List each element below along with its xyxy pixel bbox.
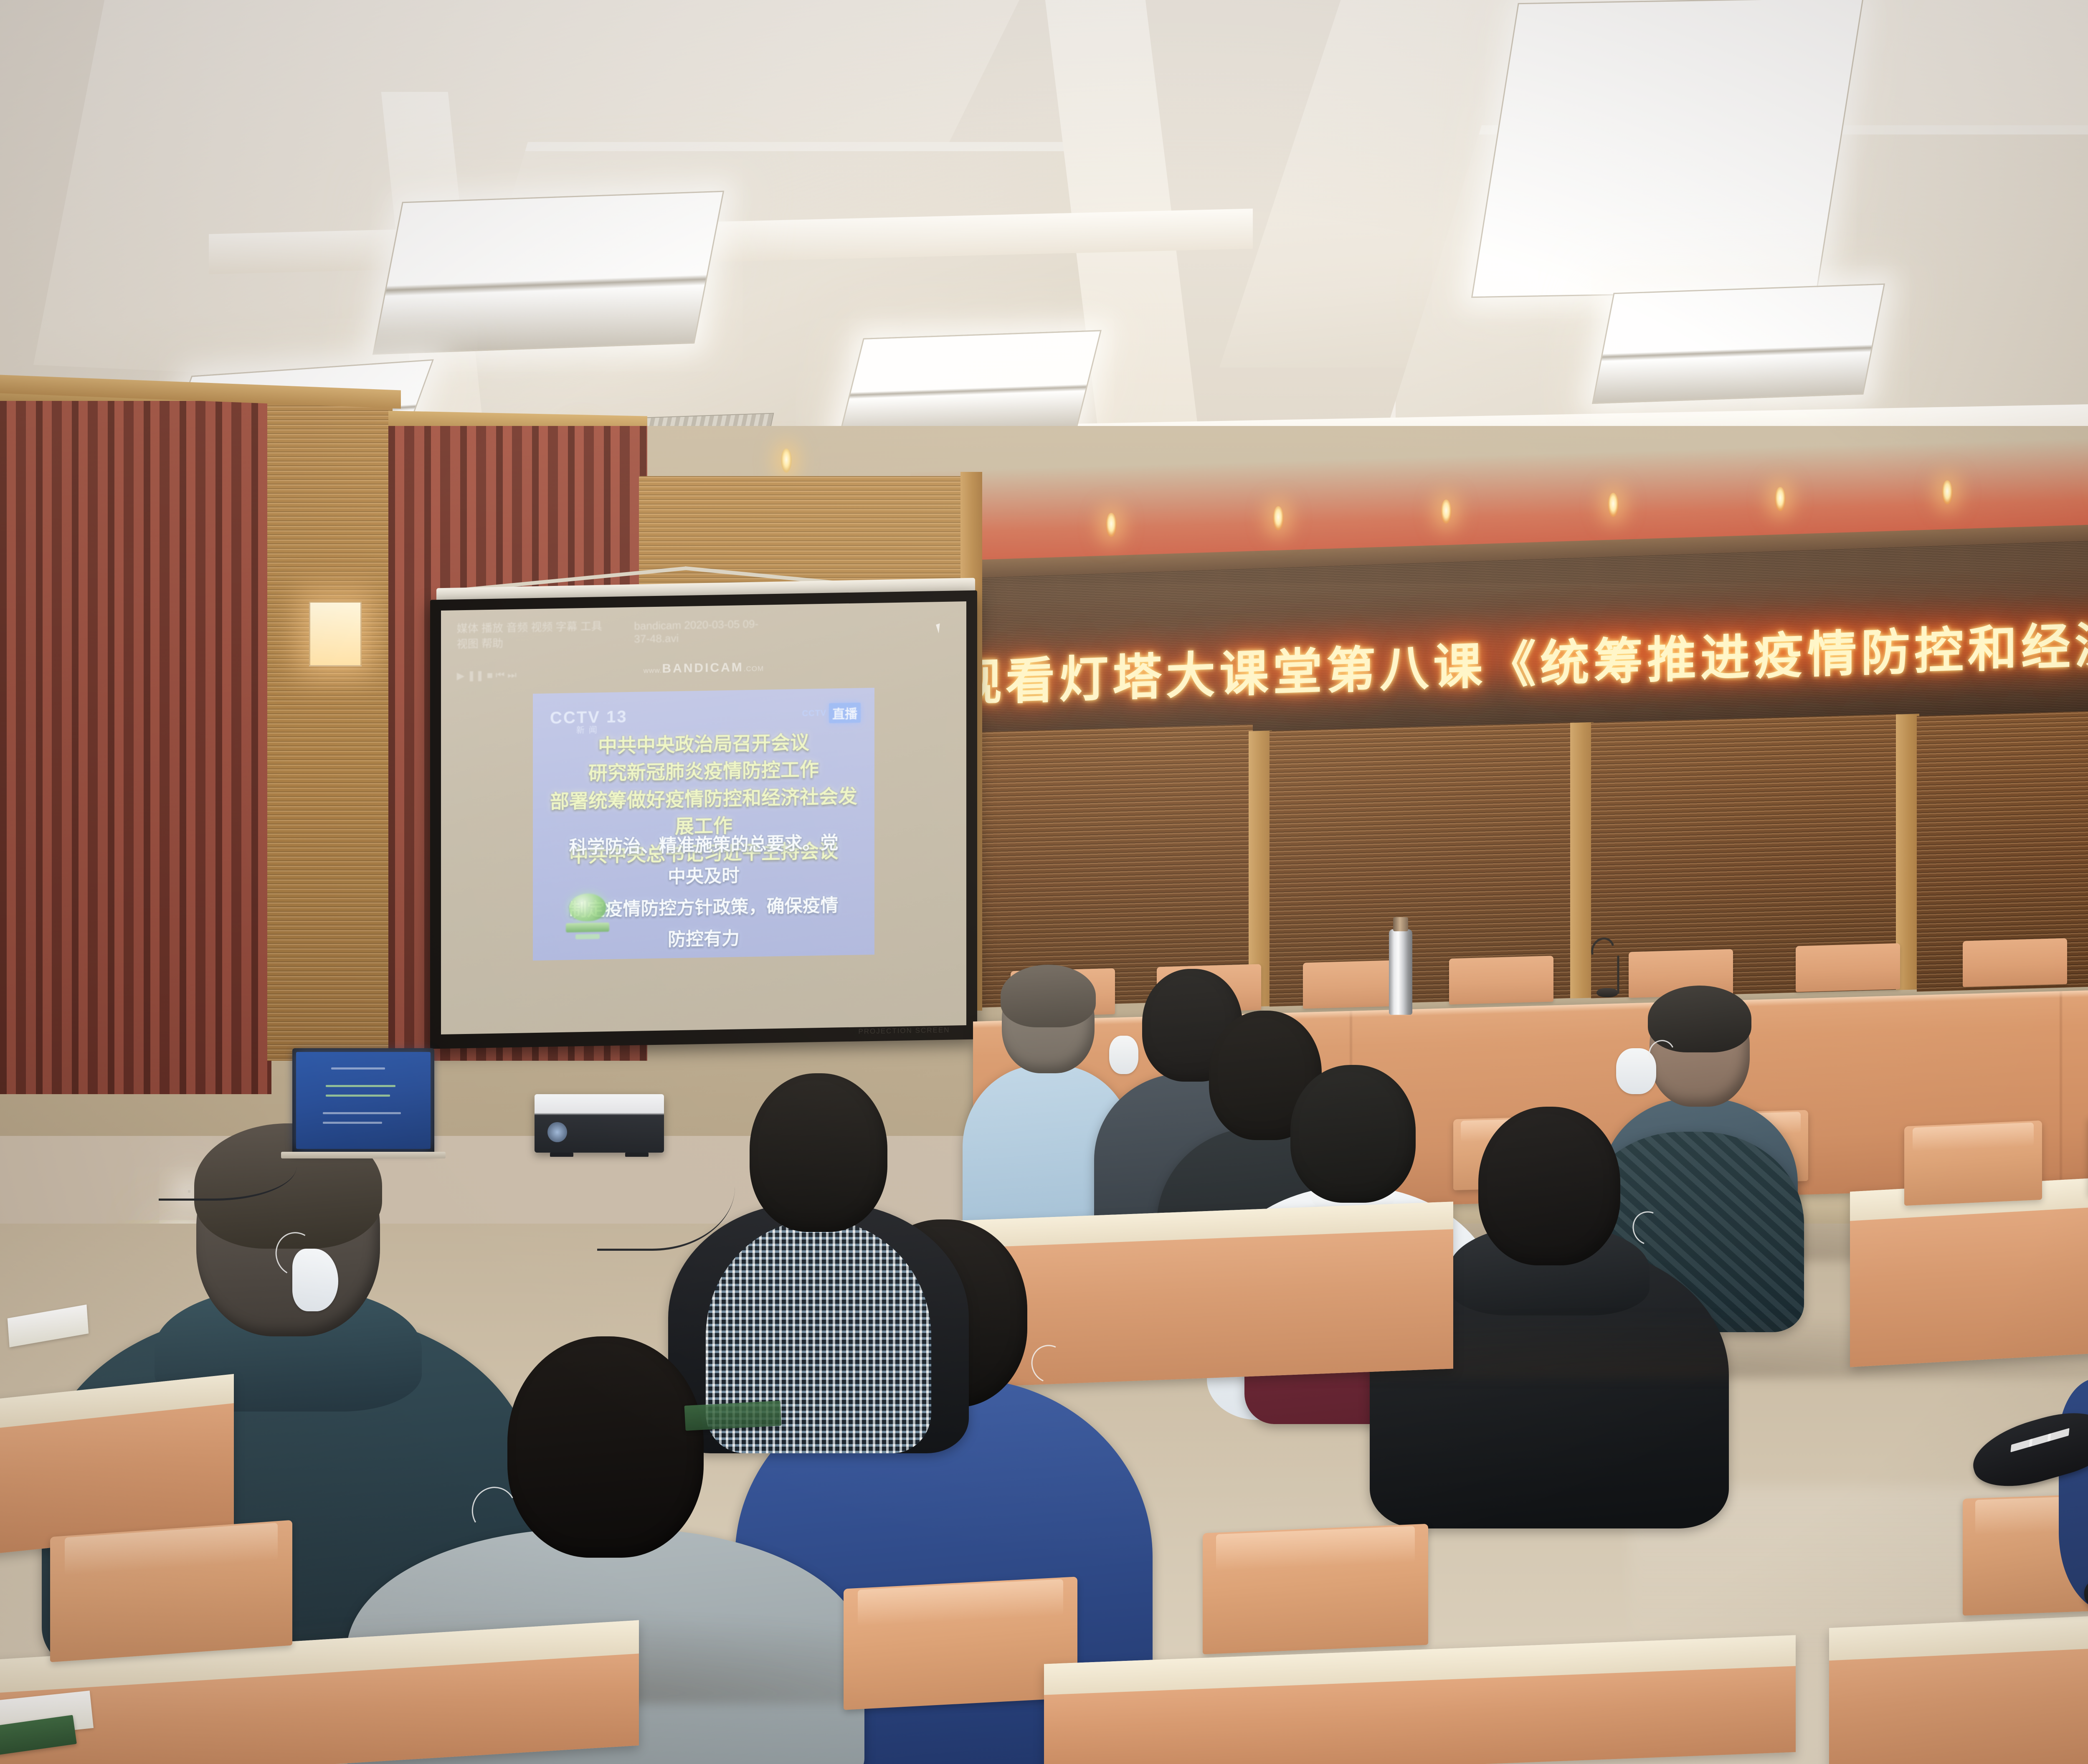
attendee-a9-mask-earloop	[1627, 1206, 1670, 1250]
conference-hall-photo: 观看灯塔大课堂第八课《统筹推进疫情防控和经济社会发展》 媒体 播放 音频 视频 …	[0, 0, 2088, 1764]
projection-screen-frame: 媒体 播放 音频 视频 字幕 工具 视图 帮助 bandicam 2020-03…	[430, 591, 977, 1049]
ceiling-panel-light-1	[372, 191, 724, 355]
bandicam-watermark-domain: .COM	[744, 664, 764, 673]
downlight-6	[1775, 487, 1786, 511]
downlight-3	[1273, 506, 1284, 530]
attendee-a9-head	[1478, 1107, 1620, 1265]
head-table-chair-pillow-7[interactable]	[1963, 938, 2067, 987]
video-player-titlebar: 媒体 播放 音频 视频 字幕 工具 视图 帮助 bandicam 2020-03…	[457, 620, 772, 646]
news-subtitle-line-1: 科学防治、精准施策的总要求。党中央及时	[564, 827, 844, 895]
video-player-filename: bandicam 2020-03-05 09-37-48.avi	[634, 617, 772, 646]
downlight-2	[1106, 513, 1117, 537]
laptop-screen-line-2	[326, 1085, 395, 1087]
projection-screen-brand-label: PROJECTION SCREEN	[858, 1026, 950, 1036]
cctv-mark-globe-icon	[569, 893, 606, 922]
chair-front-mid[interactable]	[1203, 1524, 1428, 1655]
head-table-chair-pillow-4[interactable]	[1449, 956, 1553, 1005]
left-wall-slat-panel	[267, 401, 393, 1061]
cctv-mark-base-icon	[566, 923, 609, 933]
back-wall-post-2	[1570, 722, 1594, 999]
laptop-screen-line-4	[323, 1112, 401, 1114]
bandicam-watermark-name: BANDICAM	[662, 660, 743, 675]
live-badge-label: 直播	[829, 703, 861, 723]
wall-sconce-left	[309, 601, 362, 667]
projection-screen-surface: 媒体 播放 音频 视频 字幕 工具 视图 帮助 bandicam 2020-03…	[441, 601, 966, 1034]
thermos-cap[interactable]	[1393, 917, 1408, 931]
projector-foot-left	[550, 1153, 573, 1157]
thermos-bottle[interactable]	[1389, 929, 1412, 1015]
attendee-a3-mask-earloop	[1026, 1339, 1073, 1389]
projector-lens-icon	[547, 1122, 567, 1142]
video-frame: CCTV 13 新闻 CCTV 直播 中共中央政治局召开会议 研究新冠肺炎疫情防…	[533, 688, 874, 961]
laptop-lid	[292, 1048, 434, 1153]
news-headline-line-2: 研究新冠肺炎疫情防控工作	[547, 755, 861, 788]
laptop-screen[interactable]	[296, 1052, 431, 1149]
cctv-channel-name: CCTV 13	[550, 708, 628, 727]
laptop-base	[281, 1152, 446, 1158]
cctv-channel-logo: CCTV 13 新闻	[550, 708, 628, 736]
ceiling-panel-light-mid	[839, 330, 1102, 437]
adidas-stripe-3	[2047, 1428, 2070, 1442]
downlight-10	[781, 449, 792, 473]
laptop-screen-line-1	[331, 1067, 385, 1070]
laptop-screen-line-3	[326, 1095, 390, 1097]
attendee-a5-head	[750, 1073, 887, 1232]
desk-row3-right-front	[1850, 1193, 2088, 1367]
bandicam-watermark: www.BANDICAM.COM	[441, 656, 966, 680]
curtain-left	[0, 401, 271, 1094]
head-table-chair-pillow-6[interactable]	[1796, 943, 1900, 992]
attendee-a7-face-mask	[1109, 1036, 1138, 1074]
video-player-menu: 媒体 播放 音频 视频 字幕 工具 视图 帮助	[457, 618, 616, 651]
head-table-fold-3	[2059, 991, 2063, 1187]
bandicam-watermark-prefix: www.	[644, 667, 662, 675]
desk-front-right	[1829, 1604, 2088, 1764]
chair-r3-right-1[interactable]	[1904, 1120, 2042, 1206]
attendee-a6-hair	[1001, 965, 1096, 1027]
cctv-station-mark-icon	[560, 893, 615, 944]
mouse-cursor-icon	[936, 622, 947, 633]
downlight-7	[1942, 480, 1953, 504]
laptop-screen-line-5	[323, 1122, 382, 1124]
attendee-a2-head	[507, 1336, 704, 1558]
cctv-mark-cap-icon	[575, 934, 600, 939]
chair-front-left-2[interactable]	[844, 1576, 1077, 1710]
downlight-5	[1608, 493, 1619, 517]
ceiling-panel-light-right	[1592, 284, 1885, 404]
chair-front-left-1[interactable]	[50, 1520, 292, 1663]
ceiling-panel-light-2	[1471, 0, 1864, 298]
laptop[interactable]	[292, 1048, 434, 1153]
downlight-4	[1441, 499, 1452, 524]
notebook-on-desk-mid[interactable]	[684, 1401, 782, 1431]
projector[interactable]	[535, 1094, 664, 1153]
live-badge-prefix: CCTV	[802, 709, 826, 719]
live-badge: CCTV 直播	[802, 703, 861, 724]
